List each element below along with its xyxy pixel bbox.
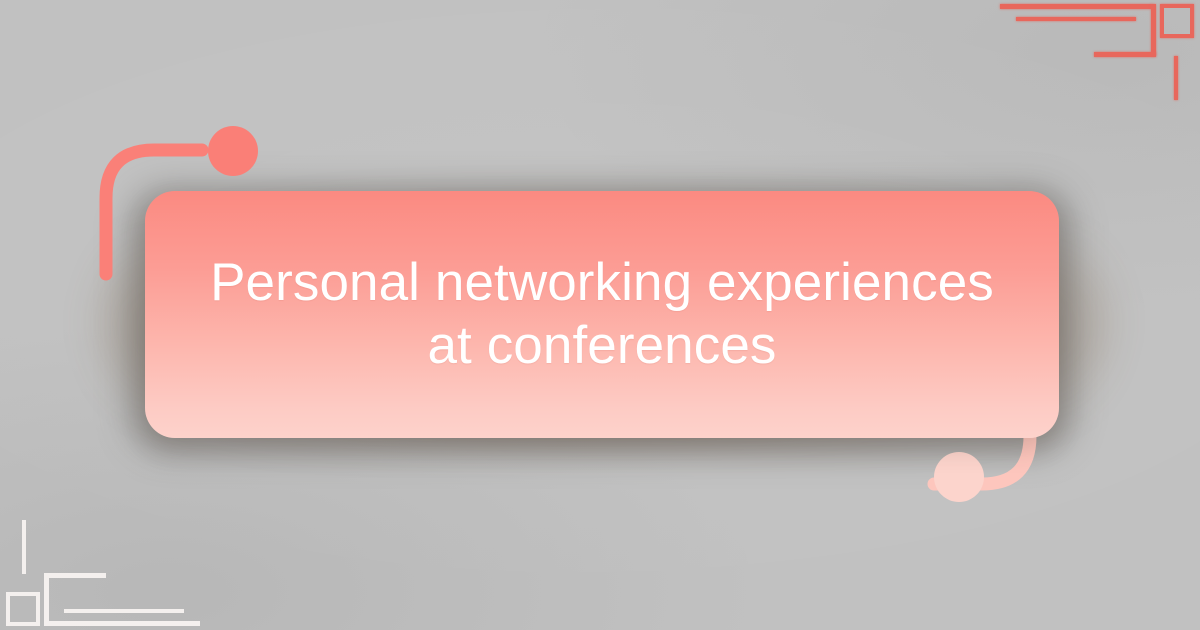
accent-dot-top-left (208, 126, 258, 176)
title-card: Personal networking experiences at confe… (145, 191, 1059, 438)
page-title: Personal networking experiences at confe… (145, 252, 1059, 377)
accent-dot-bottom-right (934, 452, 984, 502)
poster-canvas: Personal networking experiences at confe… (0, 0, 1200, 630)
